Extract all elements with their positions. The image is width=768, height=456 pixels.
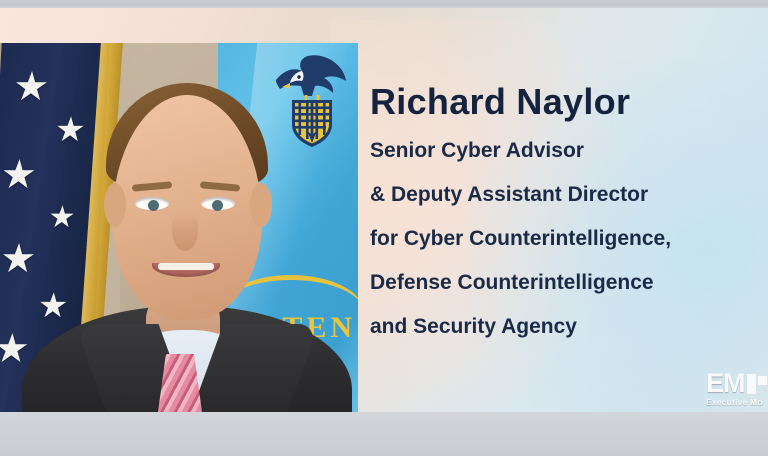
photo-iris-left (148, 200, 159, 211)
photo-nose (172, 211, 198, 251)
person-title-line-5: and Security Agency (370, 316, 760, 337)
flag-star: ★ (48, 203, 76, 233)
executive-mosaic-logo: EM Executive Mo (706, 370, 768, 410)
top-frame-strip (0, 0, 768, 8)
logo-mark: EM (706, 370, 768, 397)
logo-block-full (747, 374, 756, 394)
person-title-line-1: Senior Cyber Advisor (370, 140, 760, 161)
photo-teeth (158, 263, 214, 270)
flag-star: ★ (0, 329, 31, 369)
profile-card: TEN ★ ★ ★ ★ ★ ★ ★ (0, 0, 768, 456)
photo-iris-right (212, 200, 223, 211)
logo-subtitle: Executive Mo (706, 397, 768, 408)
flag-star: ★ (37, 289, 69, 323)
person-title-line-3: for Cyber Counterintelligence, (370, 228, 760, 249)
person-info-block: Richard Naylor Senior Cyber Advisor & De… (370, 82, 760, 360)
dcsa-seal-icon (268, 50, 348, 150)
logo-mark-text: EM (706, 370, 745, 398)
person-name: Richard Naylor (370, 82, 760, 122)
flag-star: ★ (12, 67, 50, 107)
person-title-line-2: & Deputy Assistant Director (370, 184, 760, 205)
logo-block-half (758, 376, 767, 385)
flag-star: ★ (0, 239, 37, 279)
flag-star: ★ (0, 155, 38, 195)
photo-ear-right (250, 183, 272, 227)
photo-ear-left (104, 183, 126, 227)
flag-star: ★ (54, 113, 86, 147)
person-title-line-4: Defense Counterintelligence (370, 272, 760, 293)
bottom-frame-strip (0, 412, 768, 456)
